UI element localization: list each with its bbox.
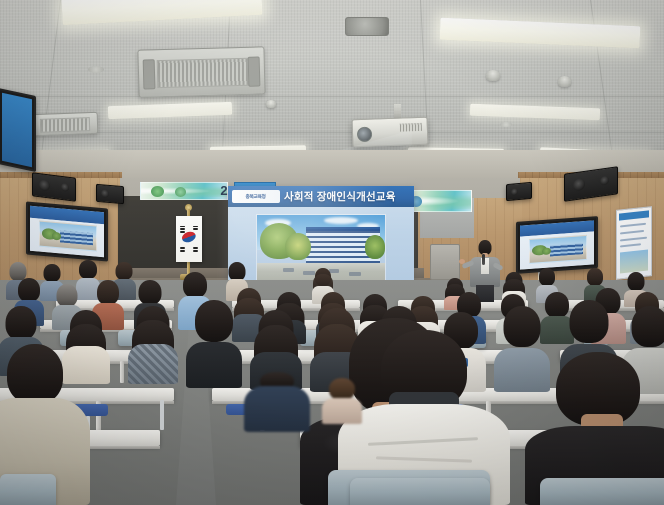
microphone-icon [482, 254, 485, 265]
right-monitor-screen [520, 220, 594, 269]
smoke-detector-icon [500, 122, 512, 127]
ceiling-speaker [345, 17, 389, 36]
notice-poster [616, 206, 652, 280]
attendee-head [539, 268, 555, 286]
foreground-head [7, 344, 63, 404]
attendee-blurred [322, 378, 362, 424]
car-icon [349, 272, 361, 276]
projector-lens [357, 127, 373, 143]
wall-speaker-left-2 [96, 184, 124, 204]
slide-title-bar: 충북교육청 사회적 장애인식개선교육 [228, 186, 414, 207]
attendee-torso [322, 398, 362, 424]
chair-leg [160, 400, 164, 430]
sprinkler-head-icon [558, 76, 571, 87]
ceiling-tile-line [0, 96, 664, 97]
slide-logo-text: 충북교육청 [246, 193, 266, 200]
attendee-head [57, 284, 78, 307]
ceiling-tile-line [0, 132, 664, 133]
tree-icon [285, 233, 311, 260]
right-wall-monitor[interactable] [516, 216, 598, 274]
attendee-head [79, 260, 97, 279]
attendee-torso [186, 342, 242, 388]
flag-cloth [176, 216, 202, 262]
chair-back-foreground [540, 478, 664, 505]
left-wall-monitor[interactable] [26, 201, 108, 261]
chair-back-foreground [350, 478, 490, 505]
attendee [186, 300, 242, 388]
poster-thumbnail [620, 250, 648, 273]
ceiling-ac-unit [30, 112, 99, 136]
attendee-head [18, 278, 40, 302]
chair-back-foreground [0, 474, 56, 505]
slide-title: 사회적 장애인식개선교육 [284, 189, 396, 204]
attendee-head [195, 300, 233, 342]
left-monitor-screen [30, 206, 104, 257]
car-icon [283, 268, 294, 272]
attendee-head [44, 264, 61, 282]
ceiling-ac-unit [137, 46, 265, 97]
attendee [128, 306, 178, 384]
wall-banner-right [404, 190, 472, 212]
attendee-head [628, 272, 645, 291]
attendee-head [632, 306, 664, 347]
attendee-head [97, 280, 119, 305]
presenter-hand-left [459, 259, 465, 264]
wall-banner-left [140, 182, 228, 200]
photograph-lecture-hall: 2 [0, 0, 664, 505]
left-upper-monitor [0, 88, 36, 172]
slide-logo: 충북교육청 [232, 190, 280, 203]
attendee-blurred [244, 372, 310, 432]
attendee-torso [244, 386, 310, 432]
attendee-torso [128, 344, 178, 384]
tree-icon [365, 235, 385, 258]
attendee-head [570, 300, 609, 343]
wall-av-panel [430, 244, 460, 280]
attendee-head [116, 262, 133, 280]
smoke-detector-icon [88, 66, 104, 73]
desk-leg [120, 361, 124, 383]
sprinkler-head-icon [266, 100, 276, 108]
attendee-head [139, 280, 162, 305]
wall-speaker-right-2 [506, 182, 532, 201]
attendee-head [6, 306, 37, 340]
cloud-icon [324, 217, 358, 224]
attendee-head [329, 378, 355, 400]
banner-logo-icon [175, 187, 186, 197]
sprinkler-head-icon [486, 70, 500, 81]
attendee-head [587, 268, 603, 286]
attendee-head [183, 272, 207, 298]
korean-flag [172, 204, 206, 280]
